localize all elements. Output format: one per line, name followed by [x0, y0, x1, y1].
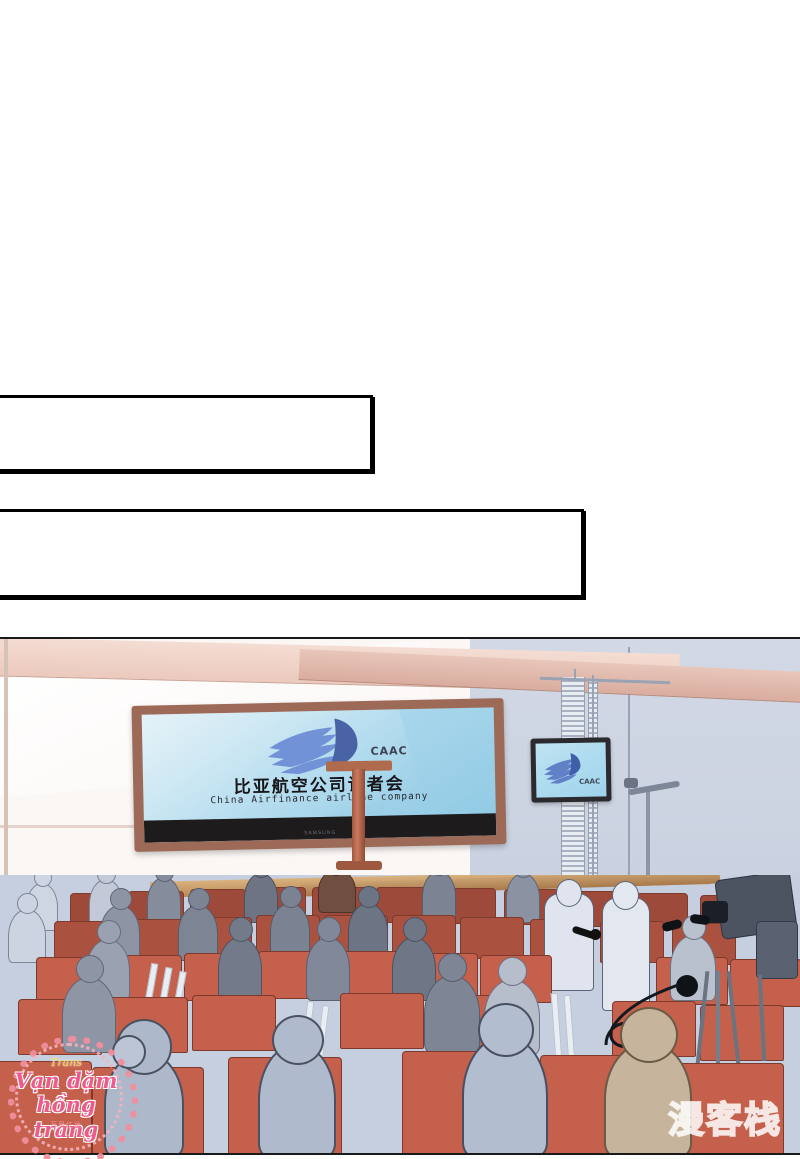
left-pillar [4, 639, 8, 907]
side-monitor-screen: CAAC [536, 742, 607, 797]
comic-page: CAAC CAAC 比亚航空公司记者会 China Airfina [0, 0, 800, 1159]
standing-reporter-2-head [612, 881, 639, 910]
seat [340, 993, 424, 1049]
dialogue-text-1 [0, 398, 370, 410]
audience-figure [8, 909, 46, 963]
watermark-line-2: hồng trang [4, 1092, 128, 1142]
podium-column [352, 769, 365, 867]
audience-head [280, 886, 302, 908]
dialogue-box-1[interactable] [0, 395, 373, 472]
foreground-audience-head [272, 1015, 324, 1065]
seat [192, 995, 276, 1051]
podium-base [336, 861, 382, 870]
audience-head [317, 917, 341, 942]
stage-light-head [624, 778, 638, 788]
standing-reporter-1-head [556, 879, 582, 907]
audience-head [17, 893, 38, 914]
audience-head [498, 957, 527, 986]
audience-head [229, 917, 253, 942]
audience-figure [218, 937, 262, 1001]
side-monitor-caac-label: CAAC [579, 777, 600, 785]
dialogue-text-2 [0, 512, 581, 524]
microphone-head [590, 929, 601, 940]
side-monitor: CAAC [530, 737, 611, 802]
audience-figure [306, 937, 350, 1001]
foreground-audience-head [478, 1003, 534, 1057]
audience-head [76, 955, 104, 983]
audience-figure [424, 975, 480, 1053]
aisle-rail [551, 993, 563, 1061]
seat [700, 1005, 784, 1061]
audience-figure-camera-op [318, 875, 356, 913]
audience-figure [506, 875, 540, 923]
truss-cable-short [574, 669, 576, 681]
projection-screen-display: CAAC 比亚航空公司记者会 China Airfinance airline … [142, 707, 497, 842]
foreground-audience-head [620, 1007, 678, 1063]
audience-head [438, 953, 467, 982]
watermark-line-1: Vạn dặm [4, 1068, 128, 1093]
audience-head [358, 886, 380, 908]
audience-head [97, 920, 121, 944]
screen-caac-label: CAAC [370, 744, 407, 758]
source-watermark: 漫客栈 [660, 1095, 790, 1147]
audience-head [110, 888, 132, 910]
dialogue-box-2[interactable] [0, 509, 584, 598]
camera-rig [756, 921, 798, 979]
watermark-subtitle: 万里红妆 [4, 1120, 128, 1130]
projection-screen: CAAC 比亚航空公司记者会 China Airfinance airline … [132, 698, 507, 852]
audience-head [188, 888, 210, 910]
audience-head [403, 917, 427, 942]
screen-brand-mark: SAMSUNG [144, 826, 496, 839]
translator-watermark: Trans Vạn dặm hồng trang 万里红妆 [4, 1032, 128, 1156]
